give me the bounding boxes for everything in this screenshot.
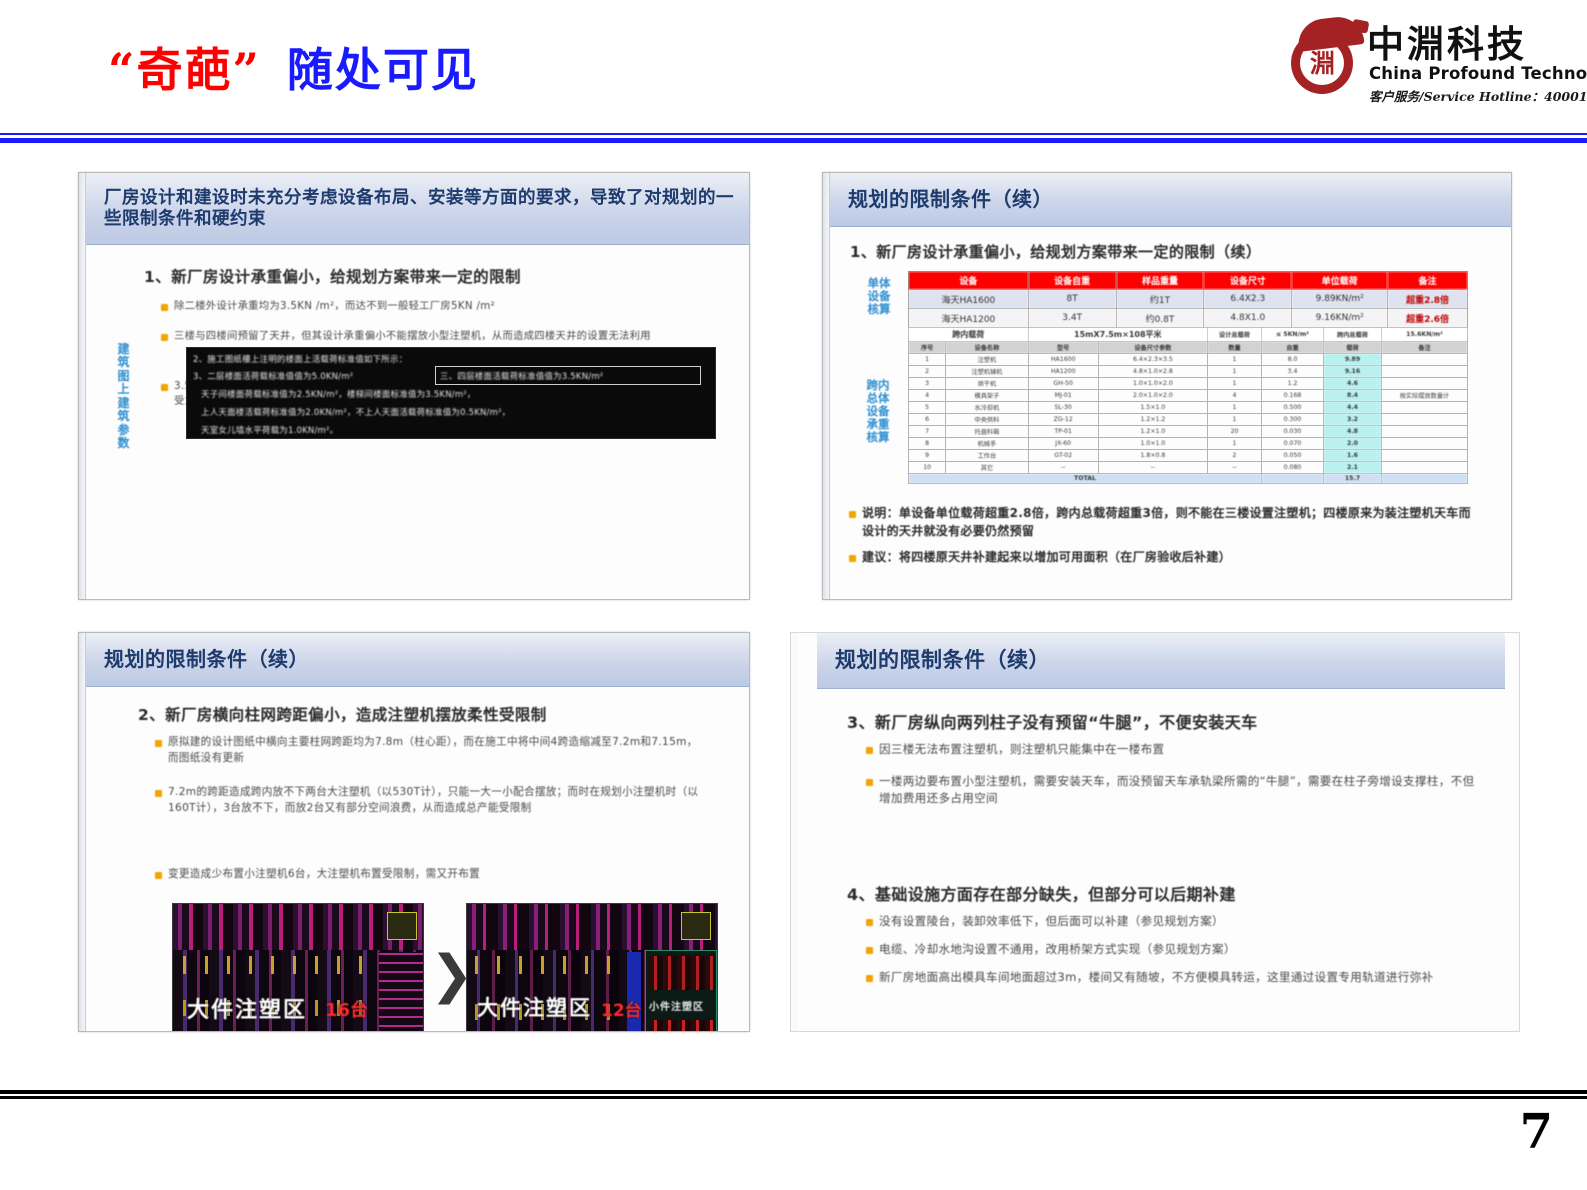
panel-tl-bullet-1: 除二楼外设计承重均为3.5KN /m²，而达不到一般轻工厂房5KN /m² <box>174 299 714 314</box>
col-qty: 数量 <box>1208 342 1262 354</box>
col-index: 序号 <box>909 342 946 354</box>
col-unit-load: 单位载荷 <box>1292 272 1388 290</box>
cell-equipment-size: 6.4X2.3 <box>1204 290 1292 309</box>
table-row: 4模具架子MJ-012.0×1.0×2.040.1688.4按实际摆放数量计 <box>909 390 1468 402</box>
table-total-row: TOTAL 15.7 <box>909 474 1468 484</box>
col-equipment-size: 设备尺寸 <box>1204 272 1292 290</box>
cell-name: 水冷却机 <box>946 402 1028 414</box>
cell-equipment: 海天HA1600 <box>909 290 1029 309</box>
panel-top-left-header: 厂房设计和建设时未充分考虑设备布局、安装等方面的要求，导致了对规划的一些限制条件… <box>86 173 749 245</box>
table-row: 海天HA1200 3.4T 约0.8T 4.8X1.0 9.16KN/m² 超重… <box>909 309 1468 328</box>
equipment-load-table: 设备 设备自重 样品重量 设备尺寸 单位载荷 备注 海天HA1600 8T 约1… <box>908 271 1468 328</box>
cell-weight: 1.2 <box>1262 378 1324 390</box>
panel-top-right-header: 规划的限制条件（续） <box>830 173 1511 227</box>
panel-tr-side-label-2: 跨内总体设备承重核算 <box>862 379 894 443</box>
logo-name-cn: 中淵科技 <box>1367 14 1527 68</box>
table-row: 10其它------0.0802.1 <box>909 462 1468 474</box>
cell-size: 1.8×0.8 <box>1098 450 1207 462</box>
table-header-row: 设备 设备自重 样品重量 设备尺寸 单位载荷 备注 <box>909 272 1468 290</box>
logo-name-en: China Profound Technology <box>1369 64 1587 83</box>
cell-qty: 1 <box>1208 414 1262 426</box>
col-load: 载荷 <box>1324 342 1382 354</box>
cell-load: 3.2 <box>1324 414 1382 426</box>
dark-line-3: 天子间楼面荷载标准值为2.5KN/m²，楼梯间楼面标准值为3.5KN/m²， <box>201 388 476 400</box>
span-load-detail-table: 跨内载荷 15mX7.5m×108平米 设计总载荷 ≤ 5KN/m² 跨内总载荷… <box>908 327 1468 484</box>
panel-br-item3-title: 3、新厂房纵向两列柱子没有预留“牛腿”，不便安装天车 <box>847 709 1258 733</box>
panel-bl-bullet-2: 7.2m的跨距造成跨内放不下两台大注塑机（以530T计），只能一大一小配合摆放；… <box>168 785 708 816</box>
cell-qty: 1 <box>1208 438 1262 450</box>
cell-model: MJ-01 <box>1028 390 1098 402</box>
panel-br-item3-bullet-2: 一楼两边要布置小型注塑机，需要安装天车，而没预留天车承轨梁所需的“牛腿”，需要在… <box>879 773 1479 807</box>
table-row: 5水冷却机SL-301.5×1.010.5004.4 <box>909 402 1468 414</box>
cell-load: 4.8 <box>1324 426 1382 438</box>
col-name: 设备名称 <box>946 342 1028 354</box>
total-label: TOTAL <box>909 474 1262 484</box>
cell-index: 7 <box>909 426 946 438</box>
cell-name: 机械手 <box>946 438 1028 450</box>
cell-load: 9.16 <box>1324 366 1382 378</box>
cell-load: 2.1 <box>1324 462 1382 474</box>
cell-index: 8 <box>909 438 946 450</box>
cell-size: 1.5×1.0 <box>1098 402 1207 414</box>
cell-equipment-weight: 3.4T <box>1028 309 1116 328</box>
cell-load: 2.0 <box>1324 438 1382 450</box>
cell-weight: 0.070 <box>1262 438 1324 450</box>
cell-note <box>1382 450 1468 462</box>
detail-title-row: 跨内载荷 15mX7.5m×108平米 设计总载荷 ≤ 5KN/m² 跨内总载荷… <box>909 328 1468 342</box>
cell-qty: 1 <box>1208 402 1262 414</box>
header-divider <box>0 133 1587 143</box>
cell-unit-load: 9.16KN/m² <box>1292 309 1388 328</box>
cell-weight: 3.4 <box>1262 366 1324 378</box>
cell-qty: 1 <box>1208 366 1262 378</box>
cell-model: GH-50 <box>1028 378 1098 390</box>
detail-title-mid: 15mX7.5m×108平米 <box>1028 328 1207 342</box>
table-row: 9工作台GT-021.8×0.820.0501.6 <box>909 450 1468 462</box>
cell-note <box>1382 438 1468 450</box>
panel-bottom-left-heading: 规划的限制条件（续） <box>86 648 309 672</box>
cell-load: 4.4 <box>1324 402 1382 414</box>
table-row: 海天HA1600 8T 约1T 6.4X2.3 9.89KN/m² 超重2.8倍 <box>909 290 1468 309</box>
footer-divider <box>0 1090 1587 1099</box>
logo-hotline: 客户服务/Service Hotline：4000114174 <box>1369 86 1587 105</box>
total-load: 15.7 <box>1324 474 1382 484</box>
panel-br-item4-bullet-1: 没有设置陵台，装卸效率低下，但后面可以补建（参见规划方案） <box>879 913 1499 930</box>
cell-index: 1 <box>909 354 946 366</box>
cell-note <box>1382 402 1468 414</box>
cell-model: TP-01 <box>1028 426 1098 438</box>
col-sample-weight: 样品重量 <box>1116 272 1204 290</box>
col-model: 型号 <box>1028 342 1098 354</box>
table-row: 2注塑机辅机HA12004.8×1.0×2.813.49.16 <box>909 366 1468 378</box>
panel-tr-item-title: 1、新厂房设计承重偏小，给规划方案带来一定的限制（续） <box>850 241 1261 262</box>
cell-qty: -- <box>1208 462 1262 474</box>
panel-tl-side-label: 建筑图上建筑参数 <box>116 343 131 451</box>
cell-name: 中央供料 <box>946 414 1028 426</box>
panel-br-item4-bullet-3: 新厂房地面高出模具车间地面超过3m，楼间又有随坡，不方便模具转运，这里通过设置专… <box>879 969 1499 986</box>
detail-table-body: 1注塑机HA16006.4×2.3×3.518.09.89 2注塑机辅机HA12… <box>909 354 1468 484</box>
cad-layout-after: 大件注塑区 12台 小件注塑区 <box>466 903 718 1032</box>
seal-icon: 淵 <box>1287 18 1365 96</box>
detail-title-val-b: 15.6KN/m² <box>1382 328 1468 342</box>
panel-top-right: 规划的限制条件（续） 1、新厂房设计承重偏小，给规划方案带来一定的限制（续） 单… <box>822 172 1512 600</box>
detail-header-row: 序号 设备名称 型号 设备尺寸参数 数量 自重 载荷 备注 <box>909 342 1468 354</box>
col-note: 备注 <box>1382 342 1468 354</box>
cell-weight: 0.030 <box>1262 426 1324 438</box>
cell-remark: 超重2.6倍 <box>1388 309 1468 328</box>
detail-title-col-b: 跨内总载荷 <box>1324 328 1382 342</box>
detail-title-left: 跨内载荷 <box>909 328 1029 342</box>
cell-index: 4 <box>909 390 946 402</box>
cell-load: 1.6 <box>1324 450 1382 462</box>
cell-note: 按实际摆放数量计 <box>1382 390 1468 402</box>
panel-left-edge <box>79 173 86 599</box>
cell-index: 6 <box>909 414 946 426</box>
table-row: 3烘干机GH-501.0×1.0×2.011.24.6 <box>909 378 1468 390</box>
cell-model: ZG-12 <box>1028 414 1098 426</box>
cell-load: 9.89 <box>1324 354 1382 366</box>
dark-highlight-box: 三、四层楼面活载荷标准值值为3.5KN/m² <box>435 366 701 385</box>
total-weight <box>1262 474 1324 484</box>
cad-after-label: 大件注塑区 <box>477 992 592 1022</box>
cell-weight: 0.168 <box>1262 390 1324 402</box>
panel-bottom-right-heading: 规划的限制条件（续） <box>817 648 1050 673</box>
panel-bl-bullet-1: 原拟建的设计图纸中横向主要柱网跨距均为7.8m（柱心距），而在施工中将中间4跨造… <box>168 735 708 766</box>
cell-name: 模具架子 <box>946 390 1028 402</box>
cell-model: SL-30 <box>1028 402 1098 414</box>
cell-qty: 20 <box>1208 426 1262 438</box>
cell-index: 5 <box>909 402 946 414</box>
cell-size: -- <box>1098 462 1207 474</box>
cell-note <box>1382 378 1468 390</box>
cell-sample-weight: 约1T <box>1116 290 1204 309</box>
panel-bl-item-title: 2、新厂房横向柱网跨距偏小，造成注塑机摆放柔性受限制 <box>138 703 547 725</box>
cell-qty: 1 <box>1208 354 1262 366</box>
cell-note <box>1382 462 1468 474</box>
cell-size: 1.0×1.0×2.0 <box>1098 378 1207 390</box>
panel-tl-item-title: 1、新厂房设计承重偏小，给规划方案带来一定的限制 <box>144 265 521 287</box>
cell-qty: 2 <box>1208 450 1262 462</box>
dark-line-1: 2、施工图纸樓上注明的楼面上活载荷标准值如下所示： <box>193 353 407 365</box>
cell-name: 烘干机 <box>946 378 1028 390</box>
cell-index: 3 <box>909 378 946 390</box>
cell-model: HA1600 <box>1028 354 1098 366</box>
cell-note <box>1382 426 1468 438</box>
cell-size: 6.4×2.3×3.5 <box>1098 354 1207 366</box>
cell-name: 工作台 <box>946 450 1028 462</box>
company-logo: 淵 中淵科技 China Profound Technology 客户服务/Se… <box>1279 12 1579 110</box>
panel-top-left-heading: 厂房设计和建设时未充分考虑设备布局、安装等方面的要求，导致了对规划的一些限制条件… <box>86 188 749 229</box>
col-weight: 自重 <box>1262 342 1324 354</box>
cell-index: 9 <box>909 450 946 462</box>
cell-note <box>1382 366 1468 378</box>
panel-tr-note-1: 说明：单设备单位载荷超重2.8倍，跨内总载荷超重3倍，则不能在三楼设置注塑机；四… <box>862 505 1482 541</box>
dark-line-4: 上人天面楼活载荷标准值为2.0KN/m²，不上人天面活载荷标准值为0.5KN/m… <box>201 406 510 418</box>
detail-title-col-a: 设计总载荷 <box>1208 328 1262 342</box>
cell-index: 10 <box>909 462 946 474</box>
panel-tl-bullet-2: 三楼与四楼间预留了天井，但其设计承重偏小不能摆放小型注塑机，从而造成四楼天井的设… <box>174 329 714 344</box>
table-row: 1注塑机HA16006.4×2.3×3.518.09.89 <box>909 354 1468 366</box>
panel-left-edge <box>823 173 830 599</box>
table-row: 8机械手JX-601.0×1.010.0702.0 <box>909 438 1468 450</box>
dark-highlight-text: 三、四层楼面活载荷标准值值为3.5KN/m² <box>440 370 603 382</box>
col-equipment: 设备 <box>909 272 1029 290</box>
cad-before-label: 大件注塑区 <box>187 992 307 1024</box>
cell-name: 注塑机 <box>946 354 1028 366</box>
table-row: 7托盘料箱TP-011.2×1.0200.0304.8 <box>909 426 1468 438</box>
table-row: 6中央供料ZG-121.2×1.210.3003.2 <box>909 414 1468 426</box>
panel-br-item4-title: 4、基础设施方面存在部分缺失，但部分可以后期补建 <box>847 881 1236 905</box>
cell-weight: 0.500 <box>1262 402 1324 414</box>
cell-model: -- <box>1028 462 1098 474</box>
cad-after-count: 12台 <box>601 996 642 1021</box>
cell-model: JX-60 <box>1028 438 1098 450</box>
col-size: 设备尺寸参数 <box>1098 342 1207 354</box>
panel-bottom-left-header: 规划的限制条件（续） <box>86 633 749 687</box>
cell-model: HA1200 <box>1028 366 1098 378</box>
seal-character: 淵 <box>1304 45 1341 82</box>
cell-load: 4.6 <box>1324 378 1382 390</box>
cad-after-secondary-label: 小件注塑区 <box>649 998 704 1013</box>
cell-name: 注塑机辅机 <box>946 366 1028 378</box>
cell-size: 1.2×1.2 <box>1098 414 1207 426</box>
cell-remark: 超重2.8倍 <box>1388 290 1468 309</box>
page-title-rest: 随处可见 <box>287 43 479 97</box>
cell-size: 2.0×1.0×2.0 <box>1098 390 1207 402</box>
cell-load: 8.4 <box>1324 390 1382 402</box>
cell-weight: 0.300 <box>1262 414 1324 426</box>
cell-equipment-weight: 8T <box>1028 290 1116 309</box>
cell-name: 其它 <box>946 462 1028 474</box>
cell-equipment: 海天HA1200 <box>909 309 1029 328</box>
cell-weight: 8.0 <box>1262 354 1324 366</box>
cell-size: 1.2×1.0 <box>1098 426 1207 438</box>
cell-qty: 4 <box>1208 390 1262 402</box>
panel-bl-bullet-3: 变更造成少布置小注塑机6台，大注塑机布置受限制，需又开布置 <box>168 867 708 883</box>
cad-before-count: 16台 <box>325 996 368 1022</box>
panel-top-right-heading: 规划的限制条件（续） <box>830 188 1053 212</box>
cell-index: 2 <box>909 366 946 378</box>
panel-tr-note-2: 建议：将四楼原天井补建起来以增加可用面积（在厂房验收后补建） <box>862 549 1482 567</box>
cell-weight: 0.050 <box>1262 450 1324 462</box>
cad-layout-before: 大件注塑区 16台 <box>172 903 424 1032</box>
panel-bottom-right: 规划的限制条件（续） 3、新厂房纵向两列柱子没有预留“牛腿”，不便安装天车 因三… <box>790 632 1520 1032</box>
total-note <box>1382 474 1468 484</box>
panel-bottom-left: 规划的限制条件（续） 2、新厂房横向柱网跨距偏小，造成注塑机摆放柔性受限制 原拟… <box>78 632 750 1032</box>
col-equipment-weight: 设备自重 <box>1028 272 1116 290</box>
detail-title-val-a: ≤ 5KN/m² <box>1262 328 1324 342</box>
page-title: “奇葩”随处可见 <box>108 34 479 100</box>
col-remark: 备注 <box>1388 272 1468 290</box>
cell-unit-load: 9.89KN/m² <box>1292 290 1388 309</box>
cell-size: 4.8×1.0×2.8 <box>1098 366 1207 378</box>
page-number: 7 <box>1520 1104 1553 1160</box>
panel-left-edge <box>79 633 86 1031</box>
cell-note <box>1382 414 1468 426</box>
cell-size: 1.0×1.0 <box>1098 438 1207 450</box>
cell-note <box>1382 354 1468 366</box>
panel-left-edge <box>791 633 798 1031</box>
panel-bottom-right-header: 规划的限制条件（续） <box>817 633 1505 689</box>
building-parameters-figure: 2、施工图纸樓上注明的楼面上活载荷标准值如下所示： 3、二层楼面活荷载标准值值为… <box>186 347 716 439</box>
cell-equipment-size: 4.8X1.0 <box>1204 309 1292 328</box>
cell-model: GT-02 <box>1028 450 1098 462</box>
panel-br-item3-bullet-1: 因三楼无法布置注塑机，则注塑机只能集中在一楼布置 <box>879 741 1479 758</box>
dark-line-5: 天室女儿墙水平荷载为1.0KN/m²。 <box>201 424 338 436</box>
page-title-quoted: “奇葩” <box>108 43 261 97</box>
panel-br-item4-bullet-2: 电缆、冷却水地沟设置不通用，改用桥架方式实现（参见规划方案） <box>879 941 1499 958</box>
panel-top-left: 厂房设计和建设时未充分考虑设备布局、安装等方面的要求，导致了对规划的一些限制条件… <box>78 172 750 600</box>
cell-sample-weight: 约0.8T <box>1116 309 1204 328</box>
cell-qty: 1 <box>1208 378 1262 390</box>
cell-weight: 0.080 <box>1262 462 1324 474</box>
cell-name: 托盘料箱 <box>946 426 1028 438</box>
panel-tr-side-label-1: 单体设备核算 <box>864 277 894 316</box>
dark-line-2: 3、二层楼面活荷载标准值值为5.0KN/m² <box>193 370 353 382</box>
